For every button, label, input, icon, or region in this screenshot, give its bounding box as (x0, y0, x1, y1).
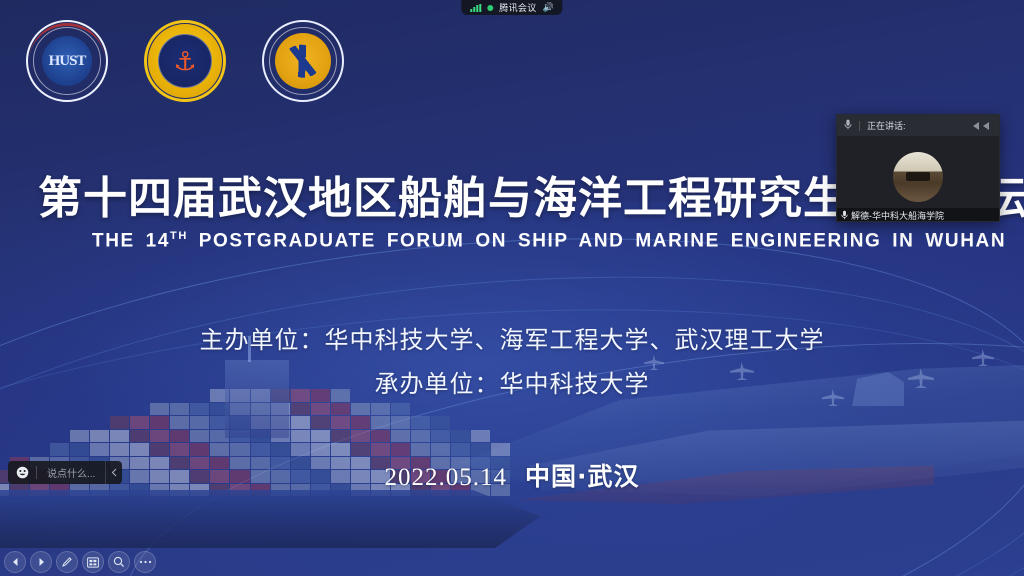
subtitle-rest: POSTGRADUATE FORUM ON SHIP AND MARINE EN… (188, 230, 1006, 251)
next-slide-button[interactable] (30, 551, 52, 573)
naval-university-of-engineering-logo: ⚓ (144, 20, 226, 102)
participant-avatar (893, 152, 943, 202)
hust-logo-abbr: HUST (42, 36, 92, 86)
speaker-icon[interactable]: 🔊 (542, 3, 553, 12)
host-line: 承办单位：华中科技大学 (0, 364, 1024, 399)
video-panel-title: 正在讲话: (867, 119, 906, 132)
double-chevron-collapse-icon[interactable] (970, 121, 992, 131)
hust-logo: HUST (26, 20, 108, 102)
chat-input-bar[interactable]: 说点什么... (8, 461, 122, 484)
zoom-button[interactable] (108, 551, 130, 573)
subtitle-prefix: THE 14 (92, 230, 170, 251)
pen-annotation-button[interactable] (56, 551, 78, 573)
video-panel-header: 正在讲话: (837, 115, 999, 136)
participant-name-text: 解德-华中科大船海学院 (851, 209, 944, 222)
chat-input-placeholder[interactable]: 说点什么... (37, 461, 105, 484)
wuhan-university-of-technology-logo (262, 20, 344, 102)
signal-bars-icon (470, 4, 481, 12)
video-panel-body[interactable]: 解德-华中科大船海学院 (837, 136, 999, 222)
slide-date: 2022.05.14 (385, 464, 508, 491)
meeting-app-name: 腾讯会议 (499, 1, 536, 14)
video-thumbnail-panel[interactable]: 正在讲话: 解德-华中科大船海学院 (836, 114, 1000, 222)
date-location-line: 2022.05.14中国·武汉 (0, 457, 1024, 493)
emoji-smiley-icon[interactable] (8, 461, 36, 484)
subtitle-ordinal-suffix: TH (170, 230, 188, 242)
chevron-left-icon[interactable] (105, 461, 122, 484)
university-logos: HUST ⚓ (26, 20, 344, 102)
previous-slide-button[interactable] (4, 551, 26, 573)
decorative-arc (0, 257, 1024, 576)
meeting-status-bar[interactable]: 腾讯会议 🔊 (461, 0, 562, 15)
shared-screen: HUST ⚓ 第十四届武汉地区船舶与海洋工程研究生学术论坛 THE 14TH P… (0, 0, 1024, 576)
green-status-dot (487, 5, 493, 11)
participant-name-label: 解德-华中科大船海学院 (837, 208, 999, 222)
slide-grid-button[interactable] (82, 551, 104, 573)
presentation-toolbar[interactable] (4, 551, 156, 573)
slide-location: 中国·武汉 (525, 462, 640, 491)
microphone-icon (844, 119, 852, 132)
microphone-icon (841, 210, 848, 222)
organizer-line: 主办单位：华中科技大学、海军工程大学、武汉理工大学 (0, 320, 1024, 355)
more-options-button[interactable] (134, 551, 156, 573)
slide-subtitle: THE 14TH POSTGRADUATE FORUM ON SHIP AND … (92, 230, 1006, 252)
